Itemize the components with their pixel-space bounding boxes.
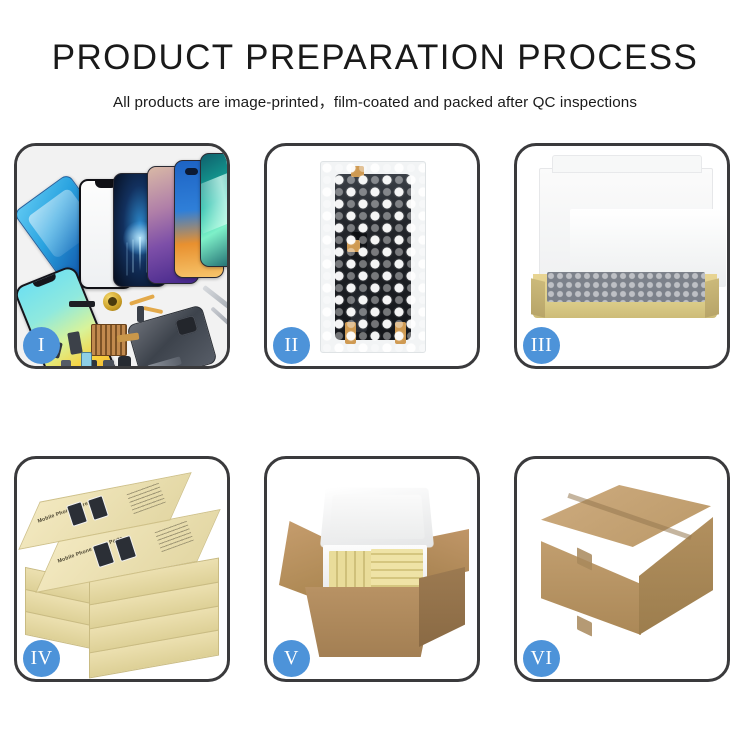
product-preparation-page: PRODUCT PREPARATION PROCESS All products… xyxy=(0,0,750,750)
component-icon xyxy=(61,360,71,366)
step-panel-1: I xyxy=(14,143,230,369)
page-title: PRODUCT PREPARATION PROCESS xyxy=(0,40,750,75)
step-badge-1: I xyxy=(23,327,60,364)
process-step-grid: I II xyxy=(14,143,730,682)
bubble-wrap-bag xyxy=(320,161,426,353)
step-badge-6: VI xyxy=(523,640,560,677)
component-icon xyxy=(137,306,144,322)
packed-boxes-row xyxy=(371,549,423,593)
step-badge-2: II xyxy=(273,327,310,364)
screwdriver-icon xyxy=(210,306,227,333)
step-panel-2: II xyxy=(264,143,480,369)
page-subtitle: All products are image-printed，film-coat… xyxy=(0,90,750,112)
step-badge-5: V xyxy=(273,640,310,677)
step-badge-3: III xyxy=(523,327,560,364)
tape-icon xyxy=(577,615,592,636)
page-header: PRODUCT PREPARATION PROCESS All products… xyxy=(0,0,750,112)
component-icon xyxy=(118,356,131,366)
bubble-texture-fine xyxy=(321,162,425,352)
step-panel-4: Mobile Phone Spare Parts Mobile Phone Sp… xyxy=(14,456,230,682)
phone-screen-teal-icon xyxy=(200,153,227,267)
open-box-lid xyxy=(539,168,713,278)
speaker-module-icon xyxy=(103,292,122,311)
step-panel-3: III xyxy=(514,143,730,369)
foam-lid xyxy=(320,488,434,548)
battery-icon xyxy=(81,352,92,366)
step-badge-4: IV xyxy=(23,640,60,677)
carton-front xyxy=(305,587,435,657)
flex-cable-icon xyxy=(143,306,163,314)
step-panel-5: V xyxy=(264,456,480,682)
carton-front xyxy=(541,533,641,635)
earpiece-icon xyxy=(69,301,95,307)
component-icon xyxy=(103,360,114,366)
flex-cable-icon xyxy=(129,294,155,306)
step-panel-6: VI xyxy=(514,456,730,682)
carton-side xyxy=(419,567,465,647)
bubble-wrapped-contents xyxy=(547,272,705,302)
